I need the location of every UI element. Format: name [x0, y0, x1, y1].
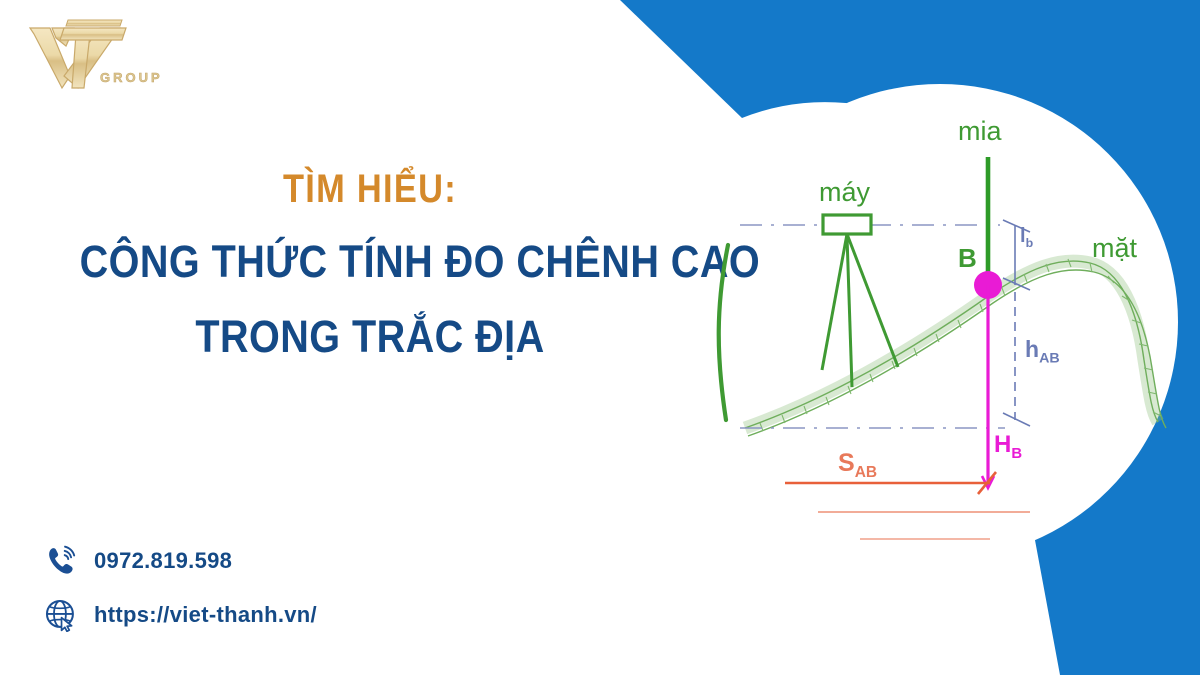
globe-cursor-icon: [44, 598, 78, 632]
logo-wordmark: GROUP: [100, 70, 163, 85]
phone-number: 0972.819.598: [94, 548, 232, 574]
phone-ring-icon: [44, 544, 78, 578]
contact-block: 0972.819.598 https://viet-thanh.vn/: [44, 538, 317, 646]
contact-row-phone[interactable]: 0972.819.598: [44, 538, 317, 584]
distance-baseline-sab: [785, 472, 996, 494]
vt-group-logo: GROUP: [22, 18, 182, 98]
diagram-svg: [700, 80, 1200, 550]
page-title-line-1: CÔNG THỨC TÍNH ĐO CHÊNH CAO: [80, 232, 661, 293]
page-title-line-2: TRONG TRẮC ĐỊA: [80, 307, 661, 368]
decorative-green-arc: [719, 245, 728, 420]
dimension-hab: [1003, 292, 1030, 426]
contact-row-website[interactable]: https://viet-thanh.vn/: [44, 592, 317, 638]
headline-block: TÌM HIỂU: CÔNG THỨC TÍNH ĐO CHÊNH CAO TR…: [40, 168, 700, 368]
leveling-diagram: mia máy mặt B lb hAB HB SAB: [700, 80, 1200, 550]
terrain-surface: [745, 259, 1166, 436]
website-url: https://viet-thanh.vn/: [94, 602, 317, 628]
eyebrow-text: TÌM HIỂU:: [86, 168, 654, 210]
poster-canvas: GROUP TÌM HIỂU: CÔNG THỨC TÍNH ĐO CHÊNH …: [0, 0, 1200, 675]
